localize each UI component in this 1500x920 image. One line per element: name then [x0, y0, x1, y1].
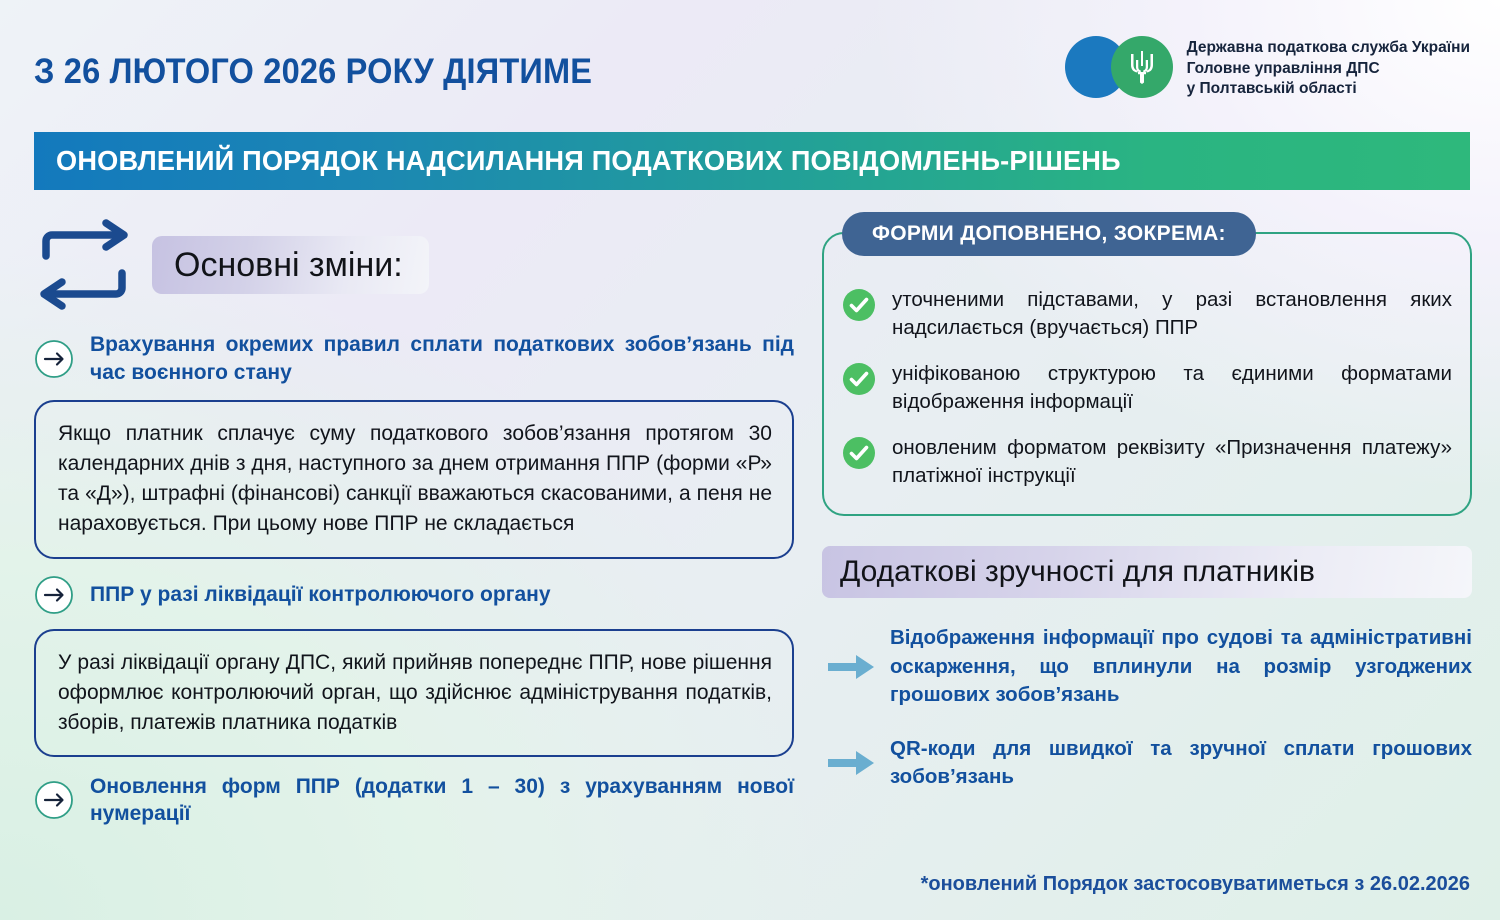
check-item: оновленим форматом реквізиту «Призначенн…	[842, 434, 1452, 490]
check-item-text: оновленим форматом реквізиту «Призначенн…	[892, 434, 1452, 490]
arrow-right-icon	[828, 652, 874, 682]
logo-green-circle-icon	[1111, 36, 1173, 98]
convenience-item-text: Відображення інформації про судові та ад…	[890, 624, 1472, 708]
forms-supplemented-badge: ФОРМИ ДОПОВНЕНО, ЗОКРЕМА:	[842, 212, 1256, 256]
change-item-2-box: У разі ліквідації органу ДПС, який прийн…	[34, 629, 794, 757]
ukraine-trident-icon	[1127, 50, 1157, 84]
logo-line-2: Головне управління ДПС	[1187, 59, 1470, 80]
convenience-item: Відображення інформації про судові та ад…	[822, 624, 1472, 708]
main-banner-text: ОНОВЛЕНИЙ ПОРЯДОК НАДСИЛАННЯ ПОДАТКОВИХ …	[56, 145, 1121, 177]
repeat-loop-icon	[34, 218, 134, 313]
conveniences-header: Додаткові зручності для платників	[822, 546, 1472, 598]
change-item-2: ППР у разі ліквідації контролюючого орга…	[34, 575, 794, 615]
change-item-1-box: Якщо платник сплачує суму податкового зо…	[34, 400, 794, 558]
logo-marks	[1065, 36, 1173, 98]
check-circle-icon	[842, 436, 876, 470]
change-item-2-title: ППР у разі ліквідації контролюючого орга…	[90, 581, 794, 609]
main-changes-label: Основні зміни:	[152, 236, 429, 294]
check-item-text: уніфікованою структурою та єдиними форма…	[892, 360, 1452, 416]
arrow-right-icon	[828, 748, 874, 778]
logo-line-3: у Полтавській області	[1187, 79, 1470, 100]
convenience-item: QR-коди для швидкої та зручної сплати гр…	[822, 735, 1472, 791]
page-title: З 26 ЛЮТОГО 2026 РОКУ ДІЯТИМЕ	[34, 52, 592, 92]
left-column: Основні зміни: Врахування окремих правил…	[34, 215, 794, 828]
page-header: З 26 ЛЮТОГО 2026 РОКУ ДІЯТИМЕ	[34, 34, 1470, 126]
main-changes-header: Основні зміни:	[34, 215, 794, 315]
check-item: уточненими підставами, у разі встановлен…	[842, 286, 1452, 342]
change-item-1: Врахування окремих правил сплати податко…	[34, 331, 794, 386]
change-item-1-title: Врахування окремих правил сплати податко…	[90, 331, 794, 386]
arrow-right-circle-icon	[34, 575, 74, 615]
check-item-text: уточненими підставами, у разі встановлен…	[892, 286, 1452, 342]
right-column: ФОРМИ ДОПОВНЕНО, ЗОКРЕМА: уточненими під…	[822, 232, 1472, 791]
logo-line-1: Державна податкова служба України	[1187, 38, 1470, 59]
arrow-right-circle-icon	[34, 339, 74, 379]
change-item-3: Оновлення форм ППР (додатки 1 – 30) з ур…	[34, 773, 794, 828]
check-circle-icon	[842, 288, 876, 322]
footnote: *оновлений Порядок застосовуватиметься з…	[921, 873, 1470, 896]
logo-text: Державна податкова служба України Головн…	[1187, 36, 1470, 100]
convenience-item-text: QR-коди для швидкої та зручної сплати гр…	[890, 735, 1472, 791]
arrow-right-circle-icon	[34, 780, 74, 820]
dps-logo: Державна податкова служба України Головн…	[1065, 36, 1470, 100]
check-item: уніфікованою структурою та єдиними форма…	[842, 360, 1452, 416]
check-circle-icon	[842, 362, 876, 396]
change-item-3-title: Оновлення форм ППР (додатки 1 – 30) з ур…	[90, 773, 794, 828]
forms-supplemented-card: ФОРМИ ДОПОВНЕНО, ЗОКРЕМА: уточненими під…	[822, 232, 1472, 516]
main-banner: ОНОВЛЕНИЙ ПОРЯДОК НАДСИЛАННЯ ПОДАТКОВИХ …	[34, 132, 1470, 190]
